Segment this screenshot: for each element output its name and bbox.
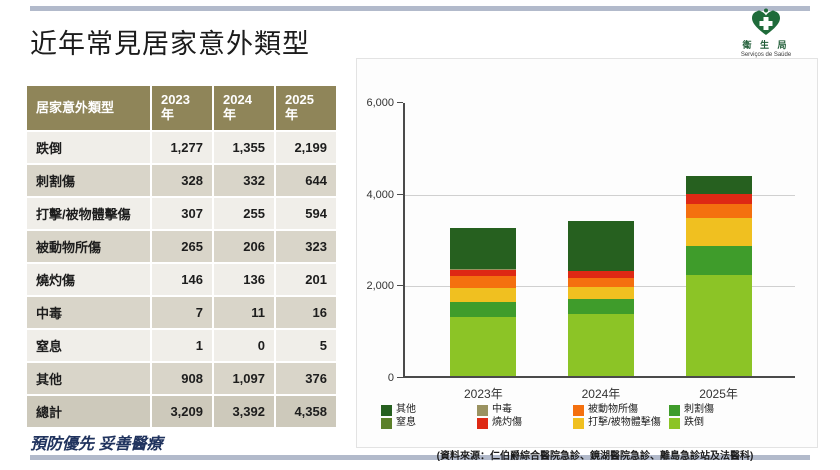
table-cell-value: 3,392 <box>213 395 275 428</box>
y-axis <box>403 103 405 378</box>
x-axis-label: 2025年 <box>664 385 774 402</box>
chart-legend: 其他窒息中毒燒灼傷被動物所傷打擊/被物體擊傷刺割傷跌倒 <box>381 404 811 429</box>
table-cell-value: 201 <box>275 263 337 296</box>
table-cell-value: 2,199 <box>275 131 337 164</box>
bar-segment-刺割傷 <box>450 302 516 317</box>
table-header-2025: 2025 年 <box>275 86 337 131</box>
bar-segment-燒灼傷 <box>450 270 516 277</box>
table-header-category: 居家意外類型 <box>27 86 151 131</box>
table-row: 刺割傷328332644 <box>27 164 337 197</box>
legend-item-跌倒[interactable]: 跌倒 <box>669 417 765 429</box>
table-cell-category: 窒息 <box>27 329 151 362</box>
slide-slogan: 預防優先 妥善醫療 <box>30 430 162 454</box>
bar-segment-其他 <box>686 176 752 193</box>
legend-swatch-icon <box>573 405 584 416</box>
table-row: 中毒71116 <box>27 296 337 329</box>
table-cell-value: 328 <box>151 164 213 197</box>
bar-segment-被動物所傷 <box>686 204 752 219</box>
source-note: (資料來源：仁伯爵綜合醫院急診、鏡湖醫院急診、離島急診站及法醫科) <box>375 447 815 462</box>
legend-label: 打擊/被物體擊傷 <box>588 417 661 429</box>
y-axis-tick <box>397 102 403 103</box>
table-cell-category: 打擊/被物體擊傷 <box>27 197 151 230</box>
legend-swatch-icon <box>573 418 584 429</box>
table-row: 跌倒1,2771,3552,199 <box>27 131 337 164</box>
y-axis-tick <box>397 194 403 195</box>
y-axis-label: 2,000 <box>366 280 394 292</box>
table-cell-value: 332 <box>213 164 275 197</box>
legend-swatch-icon <box>669 418 680 429</box>
x-axis-label: 2023年 <box>428 385 538 402</box>
legend-column: 刺割傷跌倒 <box>669 404 765 429</box>
legend-column: 被動物所傷打擊/被物體擊傷 <box>573 404 669 429</box>
table-cell-value: 908 <box>151 362 213 395</box>
table-cell-value: 265 <box>151 230 213 263</box>
legend-item-其他[interactable]: 其他 <box>381 404 477 416</box>
bar-segment-跌倒 <box>450 317 516 376</box>
legend-column: 中毒燒灼傷 <box>477 404 573 429</box>
table-cell-category: 其他 <box>27 362 151 395</box>
bar-segment-燒灼傷 <box>686 194 752 203</box>
y-axis-tick <box>397 285 403 286</box>
logo-name-cn: 衛 生 局 <box>742 38 789 51</box>
x-axis <box>403 376 795 378</box>
table-cell-category: 刺割傷 <box>27 164 151 197</box>
legend-swatch-icon <box>669 405 680 416</box>
bar-segment-打擊/被物體擊傷 <box>686 218 752 245</box>
bar-segment-刺割傷 <box>568 299 634 314</box>
table-row: 窒息105 <box>27 329 337 362</box>
legend-swatch-icon <box>381 405 392 416</box>
table-cell-category: 中毒 <box>27 296 151 329</box>
table-cell-value: 136 <box>213 263 275 296</box>
bar-2025年 <box>686 176 752 376</box>
legend-label: 其他 <box>396 404 416 416</box>
table-body: 跌倒1,2771,3552,199刺割傷328332644打擊/被物體擊傷307… <box>27 131 337 428</box>
table-cell-value: 4,358 <box>275 395 337 428</box>
legend-label: 中毒 <box>492 404 512 416</box>
legend-label: 刺割傷 <box>684 404 714 416</box>
table-cell-value: 255 <box>213 197 275 230</box>
top-divider-rule <box>30 6 810 11</box>
bar-segment-打擊/被物體擊傷 <box>568 287 634 299</box>
bar-segment-被動物所傷 <box>568 278 634 287</box>
table-header-2024: 2024 年 <box>213 86 275 131</box>
table-cell-category: 被動物所傷 <box>27 230 151 263</box>
table-cell-value: 594 <box>275 197 337 230</box>
table-cell-value: 11 <box>213 296 275 329</box>
bar-2023年 <box>450 228 516 376</box>
legend-label: 被動物所傷 <box>588 404 638 416</box>
y-axis-label: 6,000 <box>366 97 394 109</box>
y-axis-tick <box>397 377 403 378</box>
table-cell-value: 1,097 <box>213 362 275 395</box>
y-axis-label: 4,000 <box>366 189 394 201</box>
slide-root: 近年常見居家意外類型 衛 生 局 Serviços de Saúde 居家意外類… <box>0 0 840 470</box>
bar-segment-其他 <box>568 221 634 271</box>
table-row-total: 總計3,2093,3924,358 <box>27 395 337 428</box>
bar-segment-跌倒 <box>568 314 634 376</box>
table-cell-value: 1 <box>151 329 213 362</box>
legend-swatch-icon <box>477 418 488 429</box>
legend-swatch-icon <box>477 405 488 416</box>
table-cell-category: 燒灼傷 <box>27 263 151 296</box>
table-cell-value: 5 <box>275 329 337 362</box>
bar-2024年 <box>568 221 634 376</box>
bar-segment-被動物所傷 <box>450 276 516 288</box>
legend-column: 其他窒息 <box>381 404 477 429</box>
table-cell-value: 1,355 <box>213 131 275 164</box>
table-cell-value: 1,277 <box>151 131 213 164</box>
table-cell-value: 644 <box>275 164 337 197</box>
y-axis-label: 0 <box>388 372 394 384</box>
table-cell-value: 146 <box>151 263 213 296</box>
bar-segment-跌倒 <box>686 275 752 376</box>
table-header-2023: 2023 年 <box>151 86 213 131</box>
legend-label: 跌倒 <box>684 417 704 429</box>
table-cell-value: 376 <box>275 362 337 395</box>
table-cell-category: 跌倒 <box>27 131 151 164</box>
health-bureau-heart-cross-icon <box>751 8 781 36</box>
page-title: 近年常見居家意外類型 <box>30 22 310 61</box>
table-header-row: 居家意外類型 2023 年 2024 年 2025 年 <box>27 86 337 131</box>
table-cell-value: 206 <box>213 230 275 263</box>
legend-item-被動物所傷[interactable]: 被動物所傷 <box>573 404 669 416</box>
table-cell-value: 323 <box>275 230 337 263</box>
table-cell-category: 總計 <box>27 395 151 428</box>
table-row: 打擊/被物體擊傷307255594 <box>27 197 337 230</box>
x-axis-label: 2024年 <box>546 385 656 402</box>
legend-label: 窒息 <box>396 417 416 429</box>
table-cell-value: 16 <box>275 296 337 329</box>
legend-item-打擊/被物體擊傷[interactable]: 打擊/被物體擊傷 <box>573 417 669 429</box>
table-cell-value: 7 <box>151 296 213 329</box>
table-cell-value: 3,209 <box>151 395 213 428</box>
table-row: 燒灼傷146136201 <box>27 263 337 296</box>
injury-type-table: 居家意外類型 2023 年 2024 年 2025 年 跌 <box>27 86 337 429</box>
bar-segment-刺割傷 <box>686 246 752 276</box>
organization-logo: 衛 生 局 Serviços de Saúde <box>726 8 806 58</box>
table-cell-value: 0 <box>213 329 275 362</box>
legend-item-中毒[interactable]: 中毒 <box>477 404 573 416</box>
table-cell-value: 307 <box>151 197 213 230</box>
chart-panel: 02,0004,0006,000 2023年2024年2025年 其他窒息中毒燒… <box>356 58 818 448</box>
legend-label: 燒灼傷 <box>492 417 522 429</box>
legend-item-刺割傷[interactable]: 刺割傷 <box>669 404 765 416</box>
table-row: 其他9081,097376 <box>27 362 337 395</box>
bar-segment-打擊/被物體擊傷 <box>450 288 516 302</box>
legend-item-燒灼傷[interactable]: 燒灼傷 <box>477 417 573 429</box>
table-row: 被動物所傷265206323 <box>27 230 337 263</box>
legend-item-窒息[interactable]: 窒息 <box>381 417 477 429</box>
stacked-bar-chart: 02,0004,0006,000 2023年2024年2025年 <box>403 103 795 378</box>
legend-swatch-icon <box>381 418 392 429</box>
bar-segment-其他 <box>450 228 516 270</box>
